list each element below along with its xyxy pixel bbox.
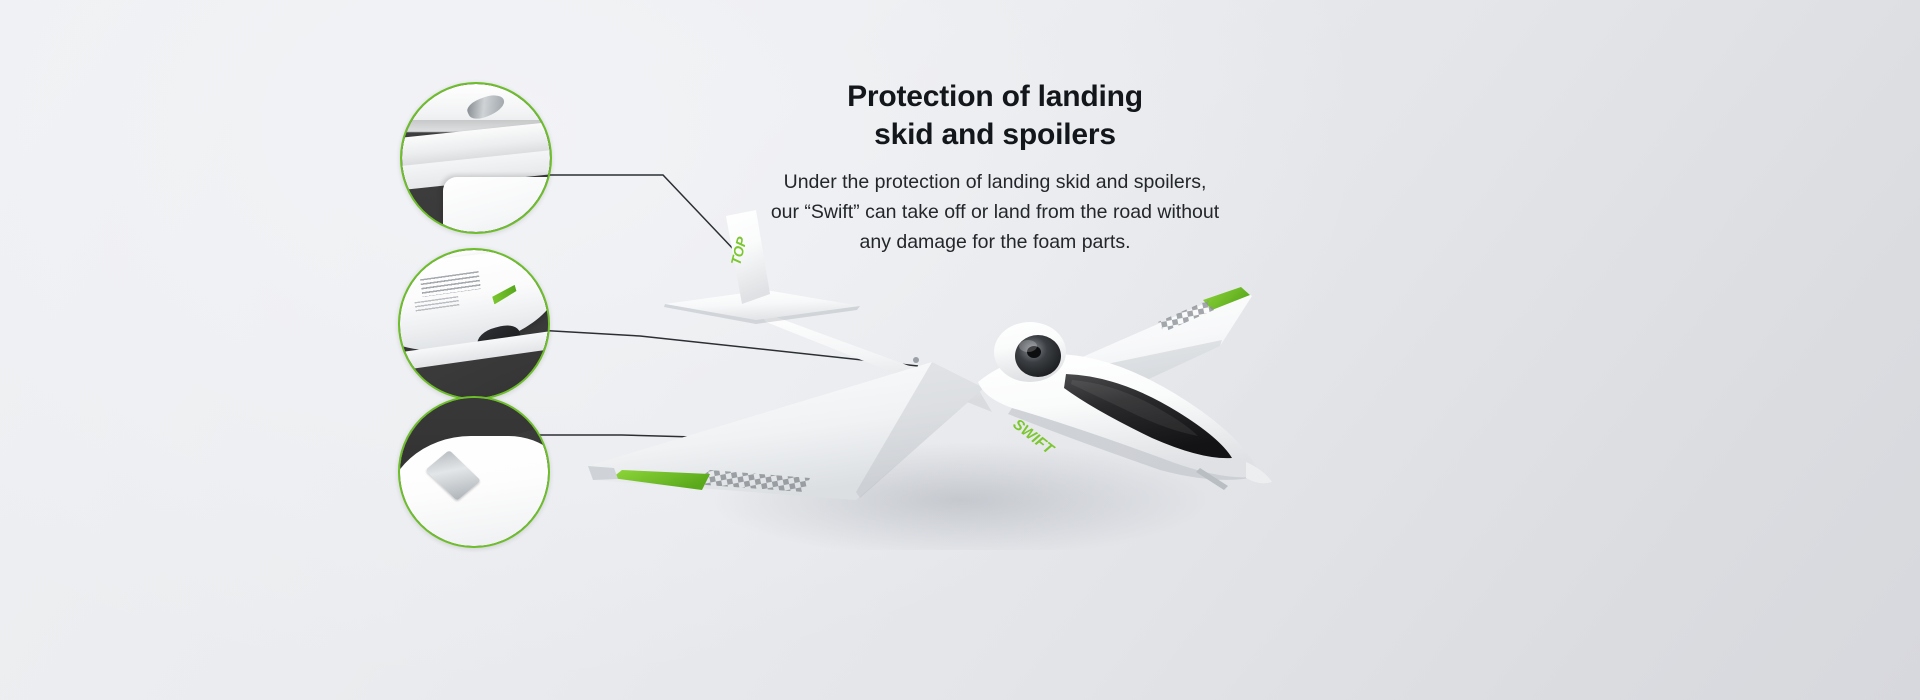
feature-heading-line-2: skid and spoilers: [745, 116, 1245, 154]
feature-body-line-3: any damage for the foam parts.: [745, 228, 1245, 258]
callout-1-photo: [402, 84, 550, 232]
callout-landing-skid[interactable]: [400, 82, 552, 234]
callout-spoiler-vents[interactable]: [398, 248, 550, 400]
callout-3-photo: [400, 398, 548, 546]
wing-vent-dot: [913, 357, 919, 363]
callout-wing-skid[interactable]: [398, 396, 550, 548]
feature-heading-line-1: Protection of landing: [745, 78, 1245, 116]
fuselage-tail-cone: [1246, 462, 1272, 483]
callout-3-foam-surface: [400, 436, 548, 546]
feature-body-line-2: our “Swift” can take off or land from th…: [745, 198, 1245, 228]
left-wing-tip-edge: [588, 466, 618, 480]
feature-body-line-1: Under the protection of landing skid and…: [745, 168, 1245, 198]
feature-text-block: Protection of landing skid and spoilers …: [745, 78, 1245, 258]
banner-root: TOP SWIFT: [0, 0, 1920, 700]
feature-heading: Protection of landing skid and spoilers: [745, 78, 1245, 154]
callout-2-photo: [400, 250, 548, 398]
feature-body-copy: Under the protection of landing skid and…: [745, 168, 1245, 257]
spinner-highlight: [1019, 340, 1037, 352]
callout-1-foam-block: [443, 177, 550, 232]
